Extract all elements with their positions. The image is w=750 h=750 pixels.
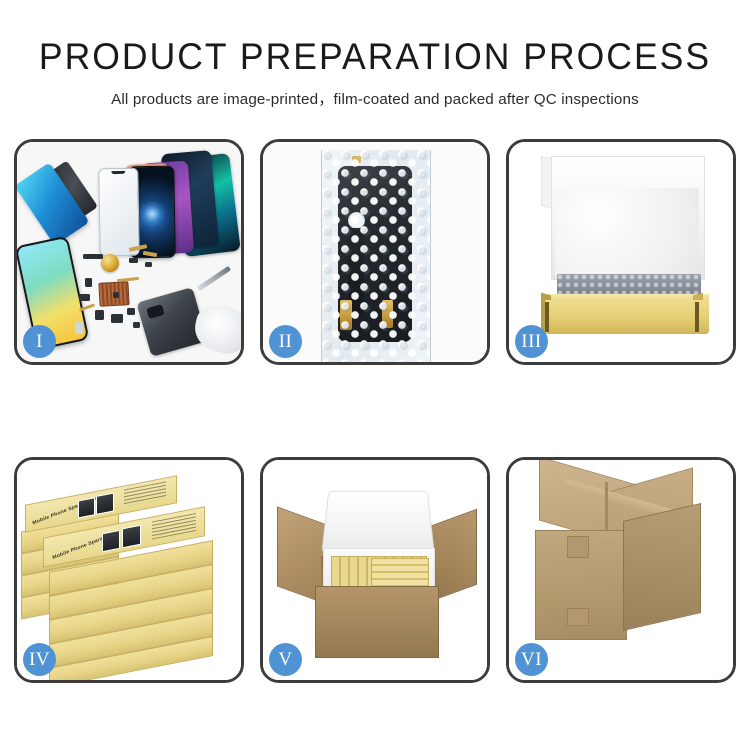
panel-stacked-retail-boxes[interactable]: Mobile Phone Spare Parts Mobile Phone Sp… [14, 457, 244, 683]
panel-badge-iii: III [515, 325, 548, 358]
small-component [127, 308, 135, 315]
panel-sealed-shipping-carton[interactable]: VI [506, 457, 736, 683]
panel-badge-iv: IV [23, 643, 56, 676]
panel-badge-vi: VI [515, 643, 548, 676]
carton-tab-upper [567, 536, 589, 558]
bubble-wrap-bag [321, 150, 431, 362]
screen-protector-glass [98, 168, 140, 257]
carton-front-panel [315, 586, 439, 658]
small-component [129, 258, 138, 263]
small-component [83, 254, 103, 259]
panel-carton-with-foam-insert[interactable]: V [260, 457, 490, 683]
panel-bubble-wrapped-part[interactable]: II [260, 139, 490, 365]
box-front-yellow [545, 300, 709, 334]
carton-tab-lower [567, 608, 589, 626]
panel-open-inner-box[interactable]: III [506, 139, 736, 365]
panel-badge-i: I [23, 325, 56, 358]
box-corner-shadow [695, 302, 699, 332]
gold-coil-component [101, 254, 119, 272]
page-subtitle: All products are image-printed，film-coat… [0, 87, 750, 109]
foam-sheet [555, 188, 699, 276]
small-component [95, 310, 104, 320]
small-component [79, 294, 90, 301]
panel-badge-v: V [269, 643, 302, 676]
page-title: PRODUCT PREPARATION PROCESS [15, 38, 735, 77]
process-panel-grid: I II [14, 139, 736, 683]
small-component [85, 278, 92, 287]
panel-phone-parts-overview[interactable]: I [14, 139, 244, 365]
small-component [133, 322, 140, 328]
small-component [111, 314, 123, 323]
styrofoam-lid [321, 491, 434, 553]
bubble-texture [322, 150, 430, 362]
small-component [145, 262, 152, 267]
panel-badge-ii: II [269, 325, 302, 358]
box-corner-shadow [545, 302, 549, 332]
small-component [75, 322, 83, 334]
page-header: PRODUCT PREPARATION PROCESS All products… [0, 0, 750, 109]
small-component [113, 292, 119, 298]
carton-side-face [623, 503, 701, 631]
